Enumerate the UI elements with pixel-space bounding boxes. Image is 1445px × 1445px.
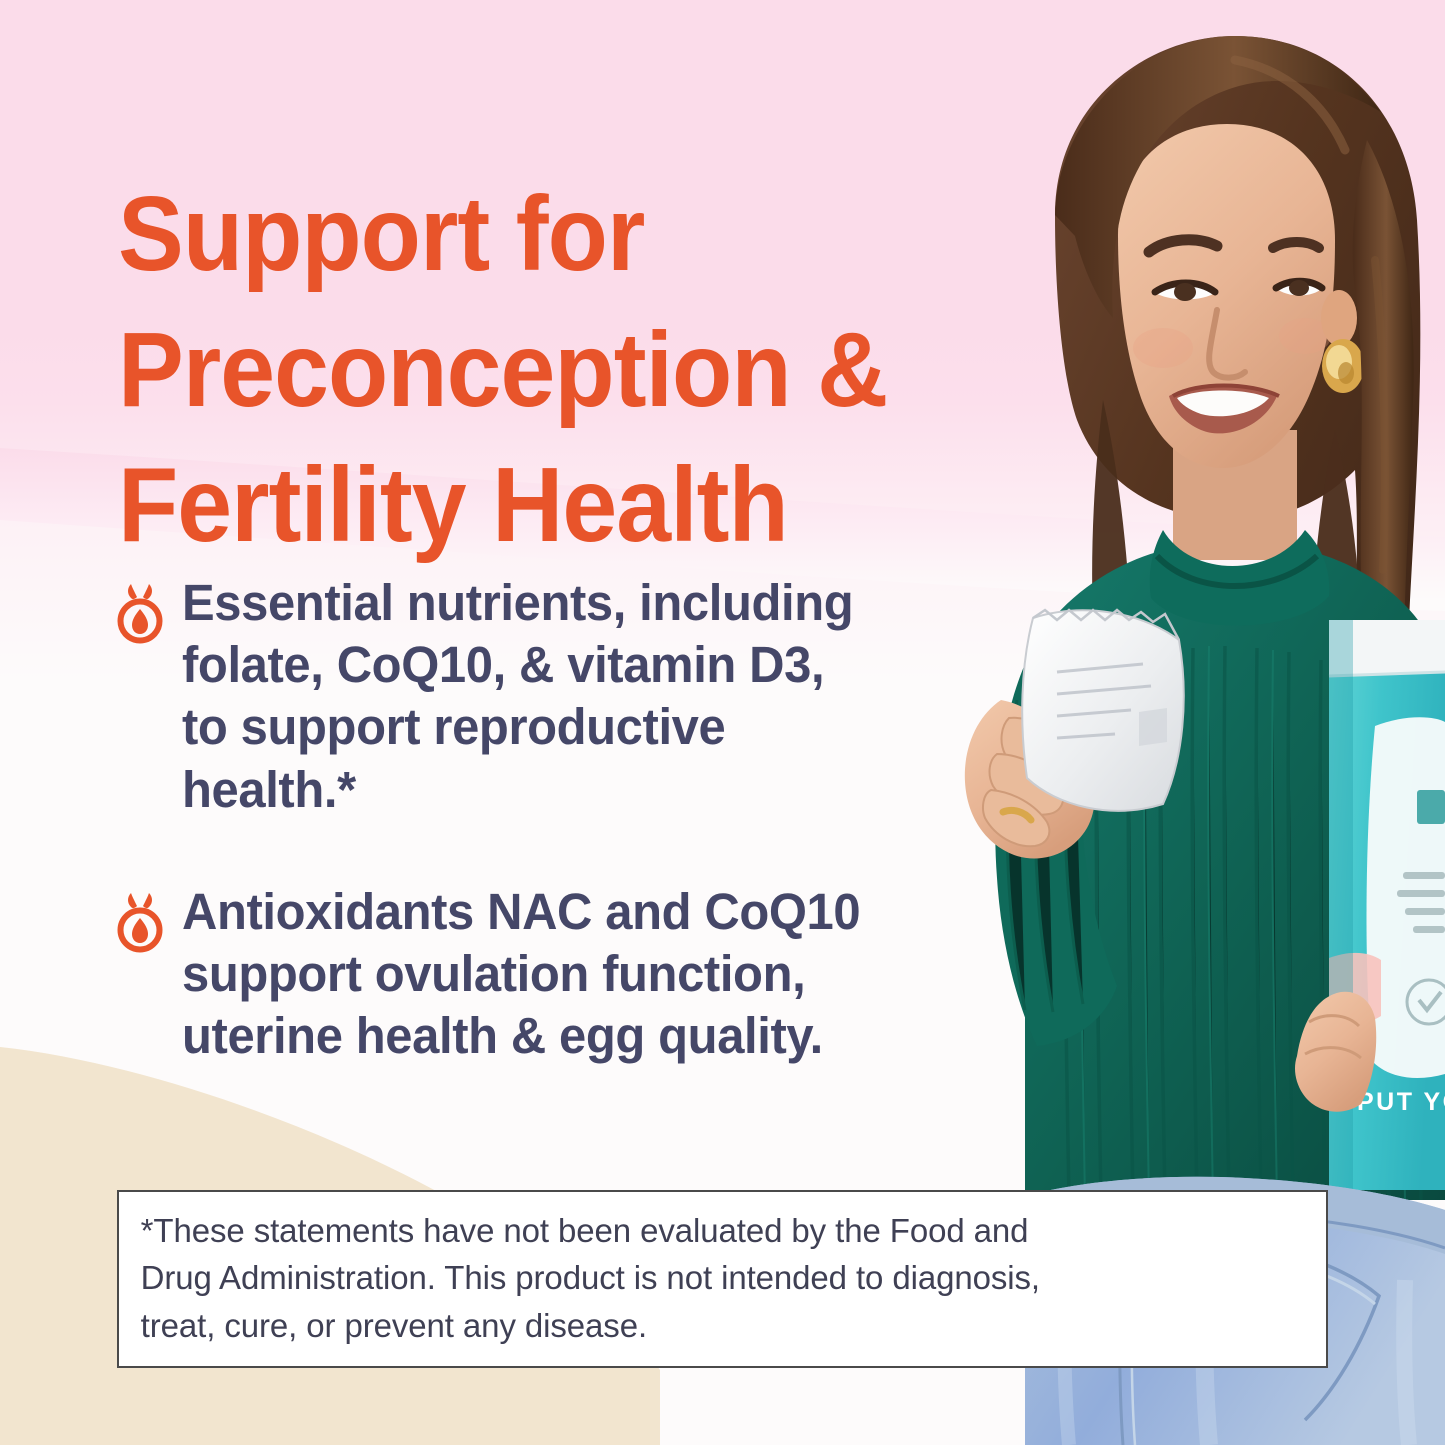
disclaimer-text: *These statements have not been evaluate… bbox=[119, 1208, 1062, 1351]
product-sachet bbox=[1022, 610, 1184, 811]
list-item: Essential nutrients, including folate, C… bbox=[112, 572, 992, 821]
fruit-seed-icon bbox=[112, 893, 168, 953]
headline-line-3: Fertility Health bbox=[118, 438, 955, 574]
bullet-2-line-1: Antioxidants NAC and CoQ10 bbox=[182, 881, 860, 943]
bullet-1-line-4: health.* bbox=[182, 759, 853, 821]
headline-line-1: Support for bbox=[118, 167, 955, 303]
list-item-text: Essential nutrients, including folate, C… bbox=[182, 572, 853, 821]
fruit-seed-icon bbox=[112, 584, 168, 644]
bullet-2-line-3: uterine health & egg quality. bbox=[182, 1005, 860, 1067]
headline-line-2: Preconception & bbox=[118, 303, 955, 439]
benefits-list: Essential nutrients, including folate, C… bbox=[112, 572, 992, 1128]
list-item: Antioxidants NAC and CoQ10 support ovula… bbox=[112, 881, 992, 1068]
promo-canvas: PUT YO bbox=[0, 0, 1445, 1445]
page-title: Support for Preconception & Fertility He… bbox=[118, 167, 955, 574]
disclaimer-line-1: *These statements have not been evaluate… bbox=[141, 1208, 1040, 1256]
disclaimer-box: *These statements have not been evaluate… bbox=[117, 1190, 1328, 1368]
list-item-text: Antioxidants NAC and CoQ10 support ovula… bbox=[182, 881, 860, 1068]
bullet-1-line-3: to support reproductive bbox=[182, 696, 853, 758]
bullet-1-line-2: folate, CoQ10, & vitamin D3, bbox=[182, 634, 853, 696]
disclaimer-line-2: Drug Administration. This product is not… bbox=[141, 1255, 1040, 1303]
disclaimer-line-3: treat, cure, or prevent any disease. bbox=[141, 1303, 1040, 1351]
bullet-2-line-2: support ovulation function, bbox=[182, 943, 860, 1005]
svg-text:PUT YO: PUT YO bbox=[1357, 1088, 1445, 1116]
bullet-1-line-1: Essential nutrients, including bbox=[182, 572, 853, 634]
